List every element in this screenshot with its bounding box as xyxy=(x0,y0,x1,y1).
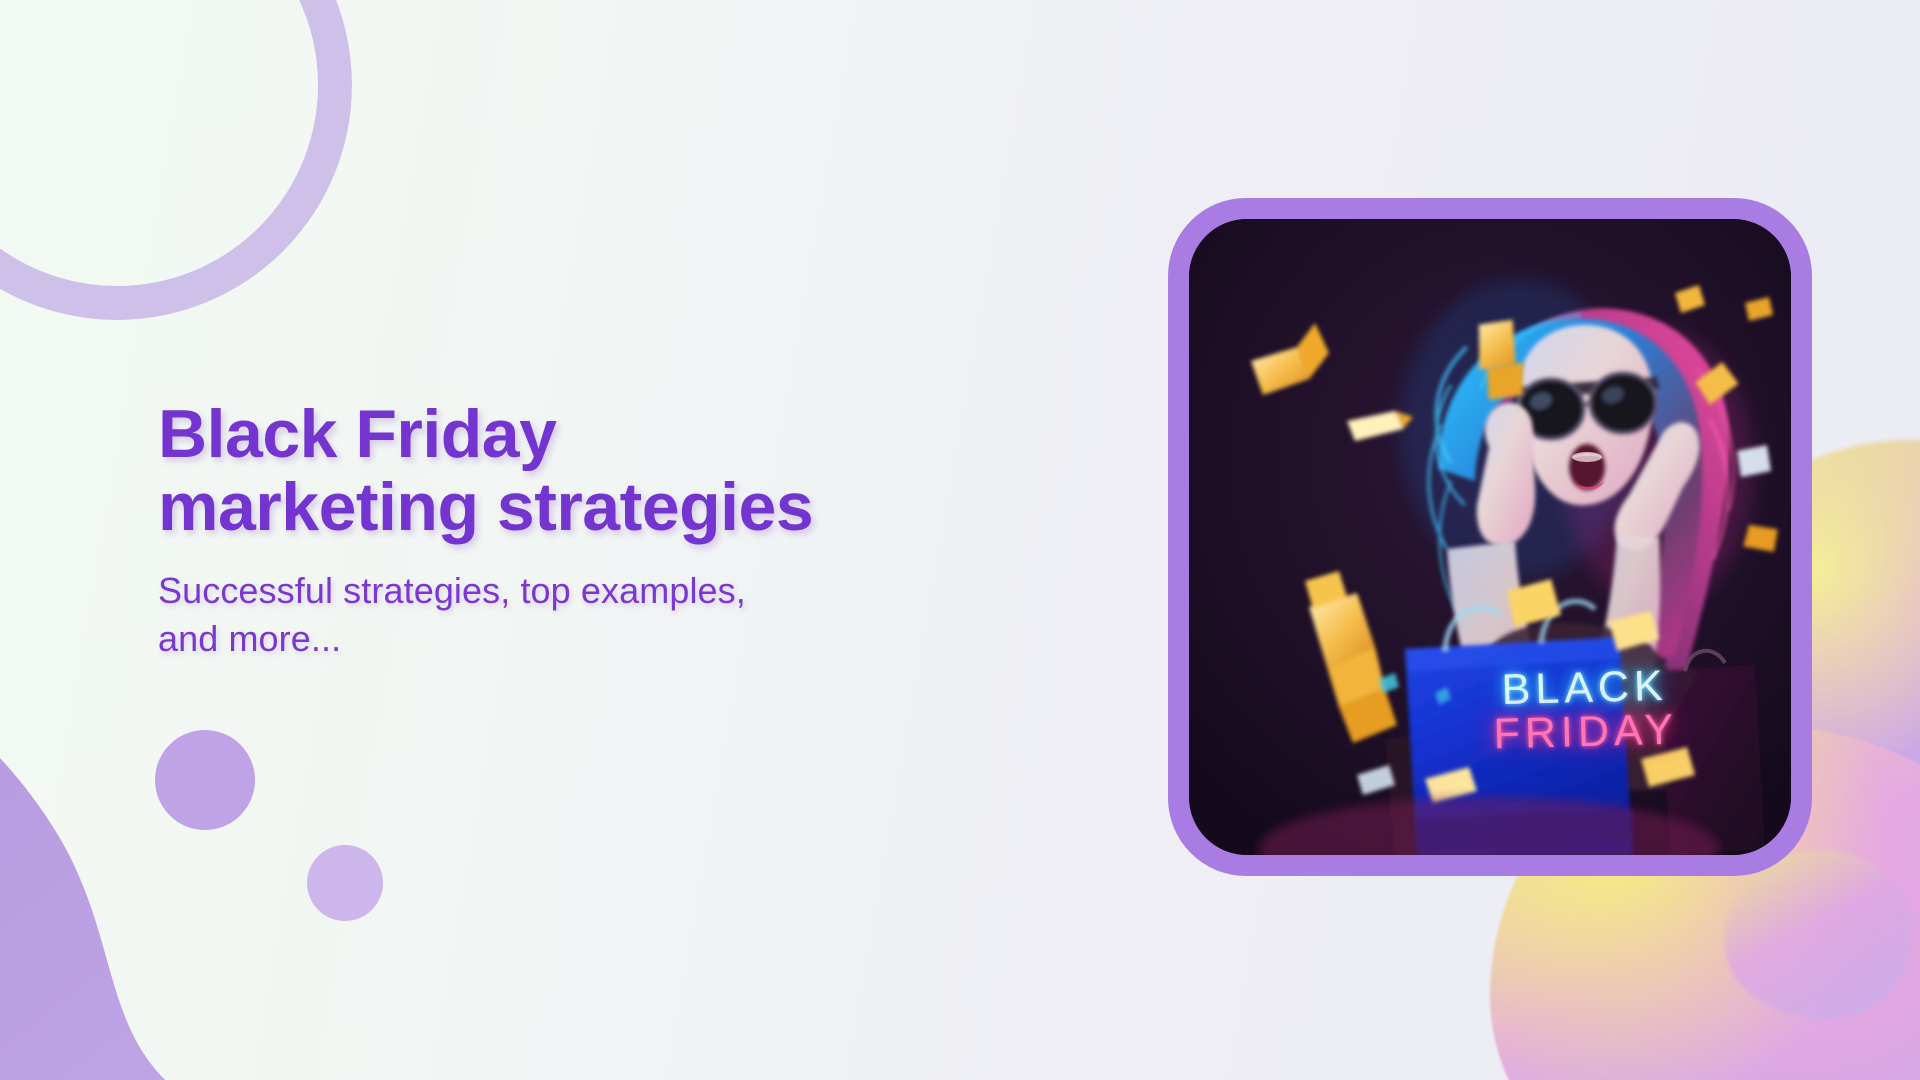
hero-image-card: BLACK FRIDAY xyxy=(1168,198,1812,876)
decorative-circle-small xyxy=(307,845,383,921)
page-title: Black Friday marketing strategies xyxy=(158,398,1018,545)
hero-text-block: Black Friday marketing strategies Succes… xyxy=(158,398,1018,663)
decorative-circle-large xyxy=(155,730,255,830)
bag-text-line-2: FRIDAY xyxy=(1493,709,1679,758)
hero-photo: BLACK FRIDAY xyxy=(1189,219,1791,855)
decorative-ring-top-left xyxy=(0,0,375,343)
photo-illustration xyxy=(1189,219,1791,855)
page-subtitle: Successful strategies, top examples, and… xyxy=(158,567,1018,663)
decorative-blob-right-corner xyxy=(1724,850,1914,1020)
shopping-bag-text: BLACK FRIDAY xyxy=(1492,665,1679,758)
slide-canvas: Black Friday marketing strategies Succes… xyxy=(0,0,1920,1080)
